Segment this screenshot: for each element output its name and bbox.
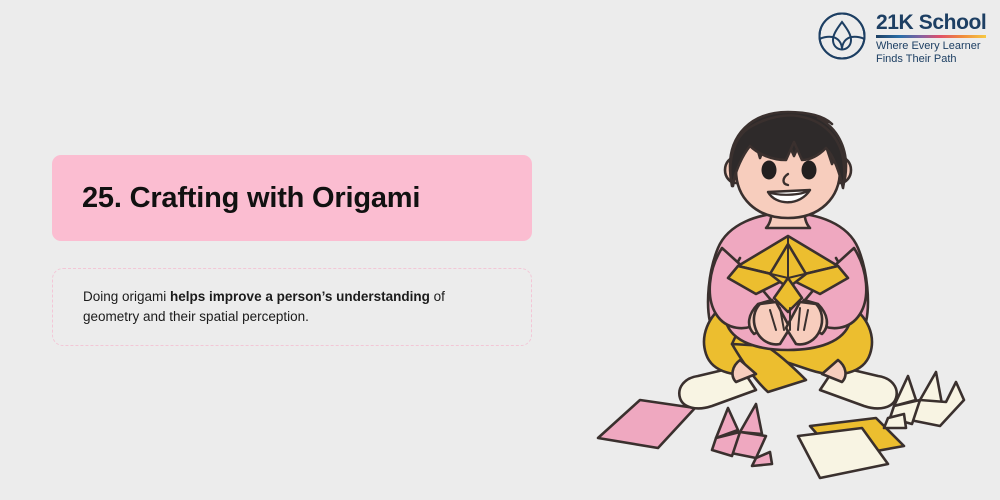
description-callout: Doing origami helps improve a person’s u…: [52, 268, 532, 346]
description-emphasis: helps improve a person’s understanding: [170, 289, 430, 304]
slide-canvas: 21K School Where Every Learner Finds The…: [0, 0, 1000, 500]
brand-logo: 21K School Where Every Learner Finds The…: [817, 11, 992, 65]
pink-origami-crane: [712, 404, 772, 466]
lotus-circle-emblem-icon: [817, 11, 867, 61]
logo-tagline-line-1: Where Every Learner: [876, 40, 986, 53]
description-lead: Doing origami: [83, 289, 170, 304]
description-text: Doing origami helps improve a person’s u…: [53, 287, 531, 327]
logo-wordmark: 21K School: [876, 12, 986, 34]
logo-text-block: 21K School Where Every Learner Finds The…: [876, 11, 986, 65]
logo-gradient-rule: [876, 35, 986, 38]
cream-origami-crane: [884, 372, 964, 428]
page-title: 25. Crafting with Origami: [52, 182, 420, 215]
child-head: [725, 112, 851, 228]
title-banner: 25. Crafting with Origami: [52, 155, 532, 241]
origami-child-illustration: [580, 108, 1000, 490]
logo-tagline-line-2: Finds Their Path: [876, 53, 986, 66]
pink-paper-sheet: [598, 400, 695, 448]
